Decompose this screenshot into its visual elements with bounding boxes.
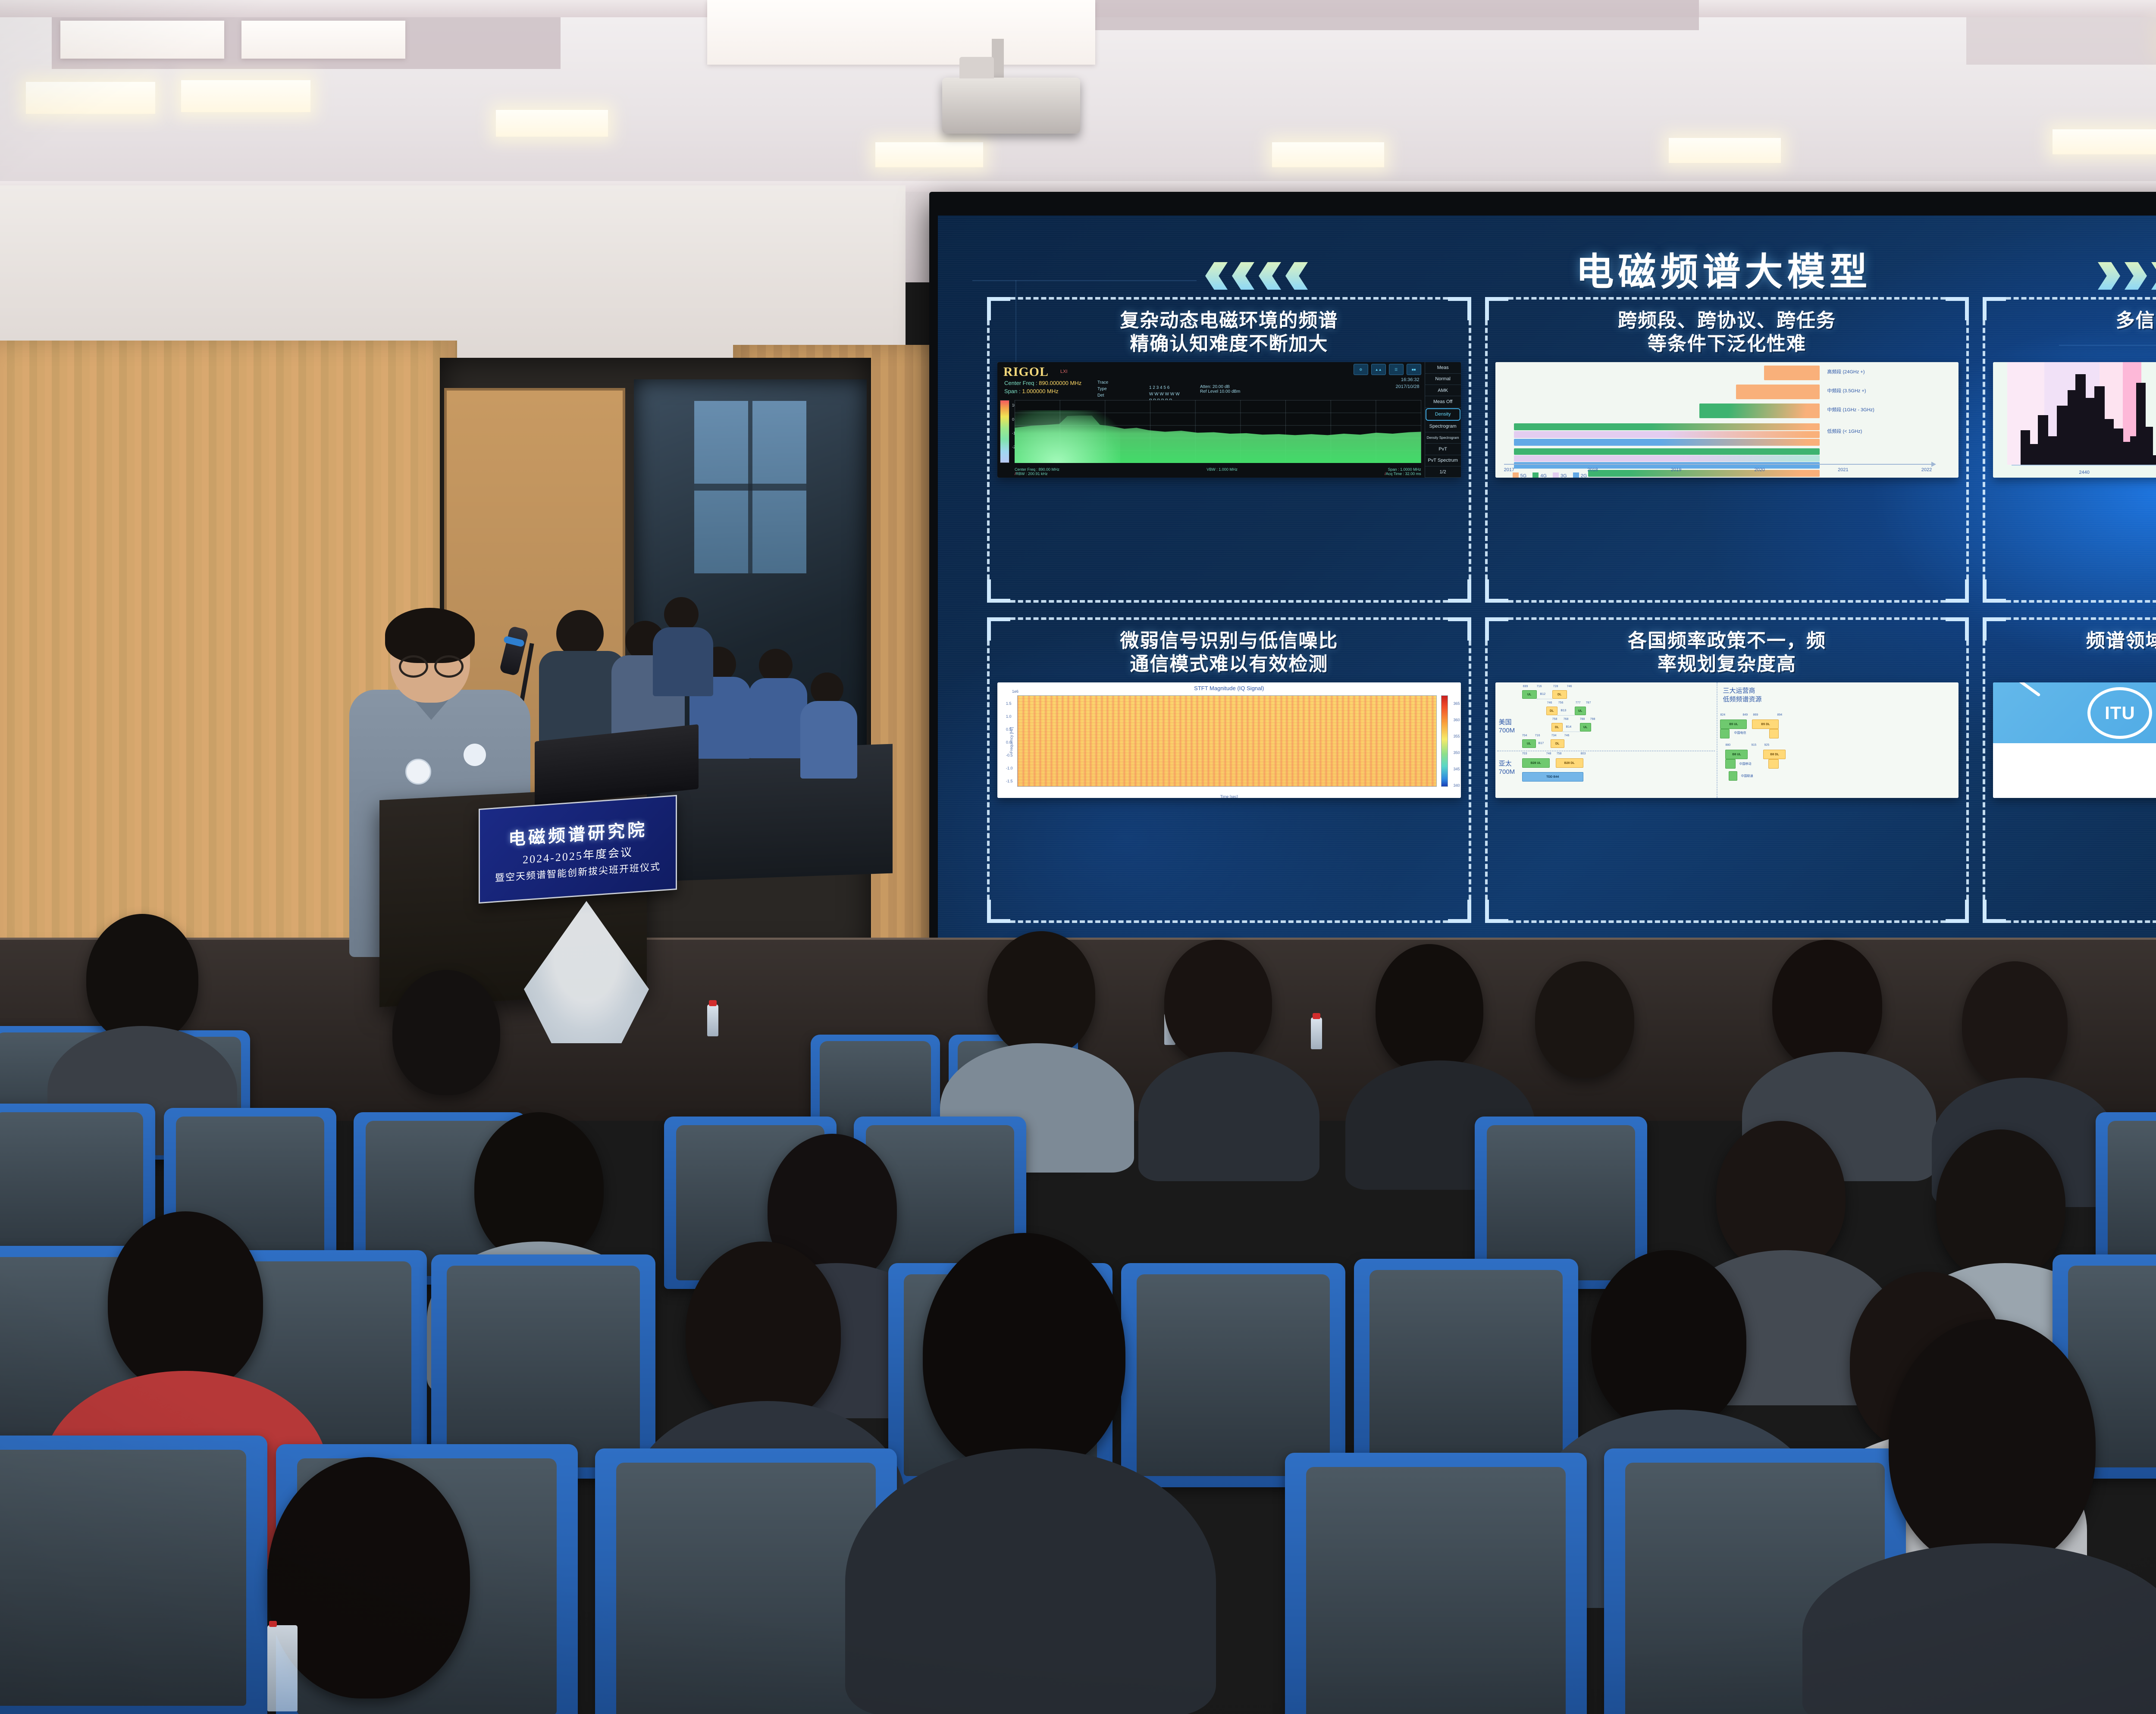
stft-y-tick: 1.5 bbox=[1006, 701, 1012, 706]
panel-4-heading-line2: 通信模式难以有效检测 bbox=[997, 653, 1461, 676]
slide-panel-3: 多信号混叠与同频干扰下 精确识别难 bbox=[1985, 300, 2156, 600]
panel-2-figure: 高频段 (24GHz +) 中频段 (3.5GHz +) 中频段 (1GHz -… bbox=[1495, 362, 1959, 478]
band-block-ul: UL bbox=[1580, 723, 1591, 732]
water-bottle bbox=[707, 1004, 718, 1036]
panel-3-heading-line1: 多信号混叠与同频干扰下 bbox=[1993, 309, 2156, 332]
band-tick: 894 bbox=[1777, 713, 1782, 716]
band-timeline-chart: 高频段 (24GHz +) 中频段 (3.5GHz +) 中频段 (1GHz -… bbox=[1495, 362, 1959, 478]
rigol-footer-acq: Acq Time : 32.00 ms bbox=[1386, 472, 1421, 476]
rigol-atten: Atten: 20.00 dB bbox=[1200, 385, 1230, 389]
power-spectrum-chart: 2440 2460 2480 Power Spectrum Signal 1 S… bbox=[1993, 362, 2156, 478]
globe-icon: ITU bbox=[2087, 687, 2152, 739]
ceiling-light bbox=[181, 80, 310, 112]
rigol-center-freq-label: Center Freq : bbox=[1004, 380, 1037, 386]
band-block-ul: B8 UL bbox=[1725, 750, 1748, 759]
conference-hall-photo: 电磁频谱大模型 复杂动态电磁环境的频谱 精确认知难度不断加大 RIGOL LXI bbox=[0, 0, 2156, 1714]
panel-1-heading-line2: 精确认知难度不断加大 bbox=[997, 332, 1461, 356]
legend-item-2g: 2G bbox=[1573, 472, 1587, 478]
band-tick: 728 bbox=[1553, 685, 1558, 688]
rigol-menu-meas-off[interactable]: Meas Off bbox=[1425, 396, 1461, 407]
band-tick: 716 bbox=[1535, 734, 1540, 737]
audience-head bbox=[267, 1457, 470, 1698]
rigol-menu-density-spectrogram[interactable]: Density Spectrogram bbox=[1425, 432, 1461, 444]
band-allocation-diagram: 美国 700M 699 716 728 746 UL B12 DL bbox=[1495, 682, 1959, 798]
density-icon[interactable]: ▲▲ bbox=[1371, 364, 1386, 375]
rigol-type-value: W W W W W W bbox=[1149, 392, 1180, 397]
panel-5-figure: 美国 700M 699 716 728 746 UL B12 DL bbox=[1495, 682, 1959, 798]
ceiling-light bbox=[26, 82, 155, 114]
legend-item-4g: 4G bbox=[1532, 472, 1547, 478]
audience-shoulders bbox=[1138, 1052, 1319, 1181]
rigol-icon-bar: ⚙ ▲▲ ☰ ■■ bbox=[1354, 364, 1421, 375]
band-tick: 758 bbox=[1552, 718, 1557, 721]
stft-colorbar-tick: 360 bbox=[1454, 718, 1460, 722]
band-tick: 869 bbox=[1753, 713, 1758, 716]
stft-colorbar-tick: 355 bbox=[1454, 734, 1460, 738]
audience-head bbox=[1962, 961, 2068, 1086]
band-block-dl: DL bbox=[1546, 707, 1557, 715]
band-block-dl: DL bbox=[1552, 690, 1567, 699]
operator-label: 中国电信 bbox=[1734, 731, 1746, 735]
rigol-spectrum-analyzer: RIGOL LXI Center Freq : 890.000000 MHz S… bbox=[997, 362, 1461, 478]
allocation-title: 三大运营商 低频频谱资源 bbox=[1723, 687, 1956, 704]
ceiling-light bbox=[1272, 142, 1384, 167]
itu-logo: ITU bbox=[1993, 682, 2156, 743]
band-tick: 758 bbox=[1557, 752, 1562, 755]
band-tick: 699 bbox=[1523, 685, 1528, 688]
stft-y-tick: -1.5 bbox=[1006, 779, 1013, 783]
band-tick: 798 bbox=[1590, 718, 1595, 721]
allocation-right-column: 三大运营商 低频频谱资源 824 849 869 894 B5 UL B5 DL bbox=[1717, 682, 1959, 798]
stft-y-tick: -1.0 bbox=[1006, 766, 1013, 770]
rigol-menu-pvt-spectrum[interactable]: PvT Spectrum bbox=[1425, 455, 1461, 466]
rigol-ref-level: Ref Level 10.00 dBm bbox=[1200, 389, 1240, 394]
panel-5-heading-line1: 各国频率政策不一，频 bbox=[1495, 629, 1959, 653]
audience-head bbox=[108, 1211, 263, 1392]
band-block-ul: B28 UL bbox=[1522, 758, 1550, 768]
panel-6-heading-line2: 利用难 bbox=[1993, 653, 2156, 676]
band-block-dl: DL bbox=[1551, 739, 1564, 748]
stft-y-exponent: 1e6 bbox=[1012, 689, 1018, 694]
band-row-label: 低频段 (< 1GHz) bbox=[1827, 428, 1957, 435]
operator-label: 中国移动 bbox=[1739, 762, 1751, 766]
panel-6-heading-line1: 频谱领域知识多、差异大，高效 bbox=[1993, 629, 2156, 653]
slide-panel-5: 各国频率政策不一，频 率规划复杂度高 美国 700M 699 716 bbox=[1488, 620, 1967, 920]
audience-head bbox=[1936, 1129, 2065, 1280]
presenter-glasses bbox=[399, 655, 464, 673]
podium-plaque: 电磁频谱研究院 2024-2025年度会议 暨空天频谱智能创新拔尖班开班仪式 bbox=[479, 795, 677, 904]
3gpp-logo: 3GPP A GLOBAL INITIATIVE bbox=[1993, 743, 2156, 798]
audience-head bbox=[1535, 961, 1634, 1078]
ceiling-light bbox=[2053, 129, 2156, 154]
rigol-softkey-menu: Meas Normal AMK Meas Off Density Spectro… bbox=[1425, 362, 1461, 478]
band-tick: 824 bbox=[1720, 713, 1725, 716]
panel-4-figure: STFT Magnitude (IQ Signal) 1e6 Frequency… bbox=[997, 682, 1461, 798]
band-tick: 703 bbox=[1522, 752, 1527, 755]
stft-colorbar-tick: 340 bbox=[1454, 783, 1460, 788]
panel-6-figure: ITU IEEE STANDARDS ASSOCIATION bbox=[1993, 682, 2156, 798]
region-label-apac: 亚太 700M bbox=[1499, 760, 1515, 776]
panel-5-heading: 各国频率政策不一，频 率规划复杂度高 bbox=[1491, 623, 1963, 680]
legend-item-3g: 3G bbox=[1553, 472, 1567, 478]
rtsa-icon[interactable]: ☰ bbox=[1389, 364, 1404, 375]
rigol-trace-info: Trace Type Det bbox=[1097, 379, 1108, 399]
band-tick: 777 bbox=[1576, 701, 1581, 704]
x-tick: 2018 bbox=[1587, 467, 1598, 472]
legend-item-5g: 5G bbox=[1513, 472, 1527, 478]
audience-head bbox=[392, 970, 500, 1095]
band-block-ul: UL bbox=[1522, 739, 1536, 748]
band-tick: 746 bbox=[1567, 685, 1572, 688]
rigol-type-label: Type bbox=[1097, 387, 1107, 391]
band-tick: 748 bbox=[1546, 752, 1551, 755]
band-tick: 756 bbox=[1558, 701, 1564, 704]
band-block-dl: B28 DL bbox=[1556, 758, 1583, 768]
chart-x-ticks: 2440 2460 2480 bbox=[2012, 470, 2156, 475]
stft-x-axis-label: Time [sec] bbox=[997, 794, 1461, 798]
rigol-footer-center-freq: Center Freq : 890.00 MHz bbox=[1015, 467, 1059, 472]
ceiling-tile bbox=[60, 21, 224, 59]
ceiling-light bbox=[496, 110, 608, 137]
x-tick: 2021 bbox=[1838, 467, 1848, 472]
band-tick: 734 bbox=[1551, 734, 1557, 737]
panel-1-heading-line1: 复杂动态电磁环境的频谱 bbox=[997, 309, 1461, 332]
rigol-det-label: Det bbox=[1097, 393, 1104, 398]
rigol-trace-label: Trace bbox=[1097, 380, 1108, 385]
stft-y-tick: 1.0 bbox=[1006, 714, 1012, 719]
presenter-hair bbox=[385, 608, 475, 663]
stft-spectrogram-image bbox=[1017, 695, 1437, 787]
itu-swoosh-icon bbox=[1993, 682, 2041, 697]
slide-panel-1: 复杂动态电磁环境的频谱 精确认知难度不断加大 RIGOL LXI Center … bbox=[990, 300, 1469, 600]
stft-colorbar-tick: 350 bbox=[1454, 751, 1460, 755]
band-name: B17 bbox=[1539, 742, 1544, 745]
rigol-footer-rbw: RBW : 200.91 kHz bbox=[1016, 472, 1048, 476]
region-label-us: 美国 700M bbox=[1499, 719, 1515, 735]
x-tick: 2022 bbox=[1921, 467, 1932, 472]
rigol-lxi-label: LXI bbox=[1060, 369, 1068, 374]
panel-5-heading-line2: 率规划复杂度高 bbox=[1495, 653, 1959, 676]
stft-heatmap: STFT Magnitude (IQ Signal) 1e6 Frequency… bbox=[997, 682, 1461, 798]
grid-view-icon[interactable]: ■■ bbox=[1407, 364, 1421, 375]
chart-x-axis bbox=[2012, 465, 2156, 466]
audience-head bbox=[987, 931, 1095, 1056]
stft-y-tick: 0.5 bbox=[1006, 727, 1012, 732]
standards-org-logos: ITU IEEE STANDARDS ASSOCIATION bbox=[1993, 682, 2156, 798]
band-row-label: 中频段 (1GHz - 3GHz) bbox=[1827, 406, 1957, 413]
audience-head bbox=[474, 1112, 604, 1263]
rigol-span-label: Span : bbox=[1004, 388, 1021, 394]
band-tick: 746 bbox=[1564, 734, 1570, 737]
window-mullion bbox=[694, 401, 806, 573]
band-tick: 768 bbox=[1564, 718, 1569, 721]
rigol-time: 16:36:32 bbox=[1401, 377, 1420, 382]
band-tick: 716 bbox=[1537, 685, 1542, 688]
rigol-menu-density[interactable]: Density bbox=[1426, 408, 1460, 421]
stft-colorbar bbox=[1441, 695, 1448, 787]
itu-wordmark: ITU bbox=[2105, 703, 2135, 723]
ceiling-tile bbox=[241, 21, 405, 59]
stft-colorbar-tick: 345 bbox=[1454, 767, 1460, 771]
panel-3-heading: 多信号混叠与同频干扰下 精确识别难 bbox=[1989, 303, 2156, 360]
rigol-menu-pvt[interactable]: PvT bbox=[1425, 444, 1461, 455]
ceiling-light bbox=[1669, 138, 1781, 163]
spectrum-trace bbox=[2012, 369, 2156, 465]
audience-head bbox=[86, 914, 198, 1043]
band-tick: 803 bbox=[1581, 752, 1586, 755]
x-tick: 2440 bbox=[2079, 470, 2089, 475]
band-tick: 925 bbox=[1764, 744, 1769, 747]
x-tick: 2017 bbox=[1504, 467, 1514, 472]
stft-colorbar-tick: 365 bbox=[1454, 701, 1460, 706]
ceiling-panel-large bbox=[707, 0, 1095, 65]
audience-head bbox=[1591, 1250, 1746, 1431]
presenter-chest-logo bbox=[464, 744, 486, 766]
band-name: B13 bbox=[1561, 709, 1566, 712]
chart-x-axis bbox=[1504, 464, 1932, 465]
rigol-brand: RIGOL bbox=[1003, 365, 1049, 379]
panel-1-figure: RIGOL LXI Center Freq : 890.000000 MHz S… bbox=[997, 362, 1461, 478]
panel-1-heading: 复杂动态电磁环境的频谱 精确认知难度不断加大 bbox=[993, 303, 1465, 360]
presenter-badge bbox=[405, 759, 431, 785]
water-bottle bbox=[267, 1625, 298, 1711]
band-tick: 880 bbox=[1725, 744, 1730, 747]
audience-head bbox=[686, 1242, 841, 1423]
rigol-y-tick: 0 bbox=[1012, 417, 1014, 422]
band-block-tdd: TDD B44 bbox=[1522, 772, 1583, 782]
x-tick: 2020 bbox=[1755, 467, 1765, 472]
rigol-menu-amk[interactable]: AMK bbox=[1425, 385, 1461, 396]
rigol-trace-nums: 1 2 3 4 5 6 bbox=[1149, 385, 1169, 390]
ceiling-projector bbox=[942, 78, 1080, 134]
operator-label: 中国联通 bbox=[1741, 774, 1753, 778]
panel-4-heading-line1: 微弱信号识别与低信噪比 bbox=[997, 629, 1461, 653]
rigol-clock: 16:36:32 2017/10/28 bbox=[1396, 377, 1420, 391]
band-block-ul: UL bbox=[1522, 690, 1537, 699]
rigol-menu-normal[interactable]: Normal bbox=[1425, 374, 1461, 385]
panel-3-figure: 2440 2460 2480 Power Spectrum Signal 1 S… bbox=[1993, 362, 2156, 478]
rigol-density-colorbar bbox=[1000, 400, 1009, 463]
audience-head bbox=[1889, 1319, 2096, 1569]
rigol-date: 2017/10/28 bbox=[1396, 384, 1420, 389]
rigol-footer-span: Span : 1.0000 MHz bbox=[1388, 467, 1421, 472]
band-block-dl: B5 DL bbox=[1752, 719, 1779, 729]
band-block-ul: B5 UL bbox=[1720, 719, 1747, 729]
band-tick: 704 bbox=[1522, 734, 1527, 737]
rigol-menu-meas[interactable]: Meas bbox=[1425, 362, 1461, 373]
band-name: B12 bbox=[1540, 693, 1545, 696]
panel-2-heading-line1: 跨频段、跨协议、跨任务 bbox=[1495, 309, 1959, 332]
ceiling-light bbox=[875, 142, 983, 167]
band-block-ul: UL bbox=[1575, 707, 1586, 715]
band-name: B14 bbox=[1566, 726, 1571, 729]
band-tick: 787 bbox=[1586, 701, 1591, 704]
band-block-dl: B8 DL bbox=[1763, 750, 1786, 759]
x-tick: 2019 bbox=[1671, 467, 1681, 472]
rigol-atten-info: Atten: 20.00 dB Ref Level 10.00 dBm bbox=[1200, 385, 1240, 394]
panel-3-heading-line2: 精确识别难 bbox=[1993, 332, 2156, 356]
panel-4-heading: 微弱信号识别与低信噪比 通信模式难以有效检测 bbox=[993, 623, 1465, 680]
rigol-footer-vbw: VBW : 1.000 MHz bbox=[1206, 467, 1238, 476]
slide-title: 电磁频谱大模型 bbox=[938, 241, 2156, 296]
slide-panel-2: 跨频段、跨协议、跨任务 等条件下泛化性难 高频段 (24GHz +) 中频段 (… bbox=[1488, 300, 1967, 600]
stft-y-tick: -0.5 bbox=[1006, 753, 1013, 757]
slide-panel-6: 频谱领域知识多、差异大，高效 利用难 ITU bbox=[1985, 620, 2156, 920]
band-tick: 849 bbox=[1742, 713, 1748, 716]
band-block-dl: DL bbox=[1551, 723, 1563, 732]
slide-panel-grid: 复杂动态电磁环境的频谱 精确认知难度不断加大 RIGOL LXI Center … bbox=[990, 300, 2156, 920]
rigol-density-glow bbox=[1015, 410, 1120, 463]
stft-chart-title: STFT Magnitude (IQ Signal) bbox=[999, 685, 1459, 691]
band-tick: 746 bbox=[1547, 701, 1552, 704]
rigol-page-indicator[interactable]: 1/2 bbox=[1425, 466, 1461, 478]
chart-legend: 5G 4G 3G 2G bbox=[1513, 472, 1587, 478]
rigol-freq-info: Center Freq : 890.000000 MHz Span : 1.00… bbox=[1004, 379, 1081, 396]
stft-y-tick: 0.0 bbox=[1006, 740, 1012, 744]
audience-shoulders bbox=[845, 1448, 1216, 1714]
band-tick: 788 bbox=[1580, 718, 1585, 721]
audience-head bbox=[923, 1233, 1125, 1474]
rigol-center-freq-value: 890.000000 MHz bbox=[1039, 380, 1081, 386]
allocation-left-column: 美国 700M 699 716 728 746 UL B12 DL bbox=[1495, 682, 1718, 798]
rigol-footer: Center Freq : 890.00 MHz /RBW : 200.91 k… bbox=[1015, 467, 1421, 476]
rigol-span-value: 1.000000 MHz bbox=[1022, 388, 1059, 394]
rigol-menu-spectrogram[interactable]: Spectrogram bbox=[1425, 421, 1461, 432]
audience-head bbox=[1772, 940, 1882, 1069]
audience-head bbox=[1164, 940, 1272, 1065]
band-row-label: 高频段 (24GHz +) bbox=[1827, 368, 1957, 375]
audience-head bbox=[1716, 1121, 1846, 1272]
chart-x-ticks: 2017 2018 2019 2020 2021 2022 bbox=[1504, 467, 1932, 472]
slide-panel-4: 微弱信号识别与低信噪比 通信模式难以有效检测 STFT Magnitude (I… bbox=[990, 620, 1469, 920]
panel-2-heading-line2: 等条件下泛化性难 bbox=[1495, 332, 1959, 356]
rigol-plot-grid bbox=[1015, 400, 1421, 463]
gear-icon[interactable]: ⚙ bbox=[1354, 364, 1368, 375]
band-row-label: 中频段 (3.5GHz +) bbox=[1827, 387, 1957, 394]
band-tick: 915 bbox=[1751, 744, 1756, 747]
water-bottle bbox=[1311, 1017, 1322, 1049]
panel-2-heading: 跨频段、跨协议、跨任务 等条件下泛化性难 bbox=[1491, 303, 1963, 360]
presentation-screen: 电磁频谱大模型 复杂动态电磁环境的频谱 精确认知难度不断加大 RIGOL LXI bbox=[938, 216, 2156, 948]
audience-head bbox=[1376, 944, 1483, 1073]
panel-6-heading: 频谱领域知识多、差异大，高效 利用难 bbox=[1989, 623, 2156, 680]
